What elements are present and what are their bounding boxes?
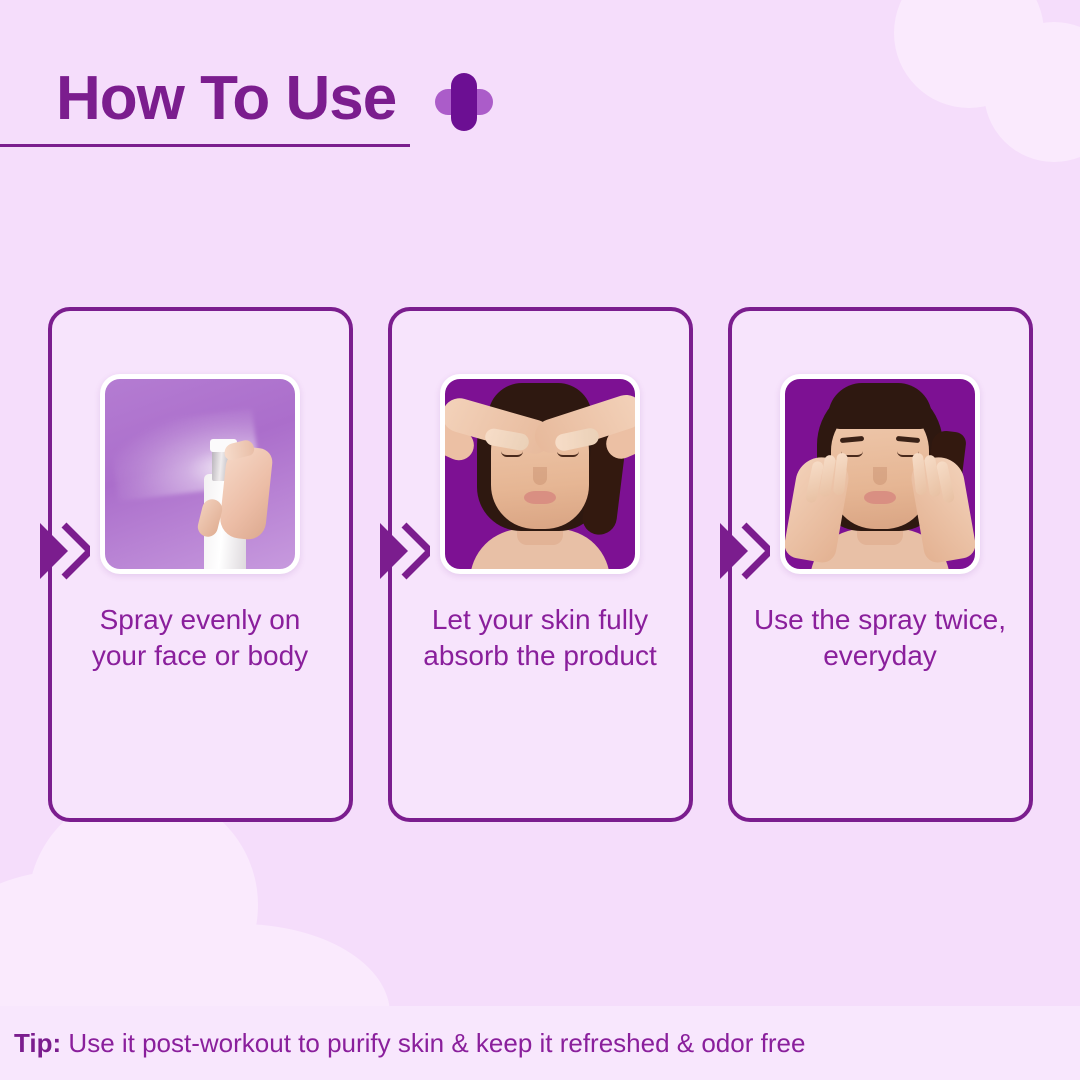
decor-blob-bottom-left-a <box>28 790 258 1020</box>
tip-text: Tip: Use it post-workout to purify skin … <box>14 1028 805 1059</box>
nose <box>533 467 547 485</box>
tip-label: Tip: <box>14 1028 61 1058</box>
lips <box>524 491 556 504</box>
tip-bar: Tip: Use it post-workout to purify skin … <box>0 1006 1080 1080</box>
plus-mark-icon <box>435 73 493 131</box>
step-caption-3: Use the spray twice, everyday <box>750 602 1010 674</box>
step-card-1[interactable]: Spray evenly on your face or body <box>48 307 353 822</box>
page-title: How To Use <box>0 66 1080 131</box>
closed-eye-right <box>557 451 579 457</box>
steps-row: Spray evenly on your face or body <box>0 307 1080 822</box>
plus-mark-vertical-bar <box>451 73 477 131</box>
hand-spraying-bottle-photo <box>100 374 300 574</box>
title-underline <box>0 144 410 147</box>
hand <box>218 445 273 541</box>
step-caption-1: Spray evenly on your face or body <box>70 602 330 674</box>
double-chevron-right-icon <box>718 519 770 583</box>
nose <box>873 467 887 485</box>
tip-body: Use it post-workout to purify skin & kee… <box>61 1028 805 1058</box>
step-caption-2: Let your skin fully absorb the product <box>410 602 670 674</box>
double-chevron-right-icon <box>378 519 430 583</box>
woman-touching-cheeks-photo <box>780 374 980 574</box>
step-card-3[interactable]: Use the spray twice, everyday <box>728 307 1033 822</box>
woman-applying-product-forehead-photo <box>440 374 640 574</box>
hairline <box>828 383 932 429</box>
closed-eye-left <box>501 451 523 457</box>
header: How To Use <box>0 66 1080 147</box>
step-card-2[interactable]: Let your skin fully absorb the product <box>388 307 693 822</box>
double-chevron-right-icon <box>38 519 90 583</box>
lips <box>864 491 896 504</box>
